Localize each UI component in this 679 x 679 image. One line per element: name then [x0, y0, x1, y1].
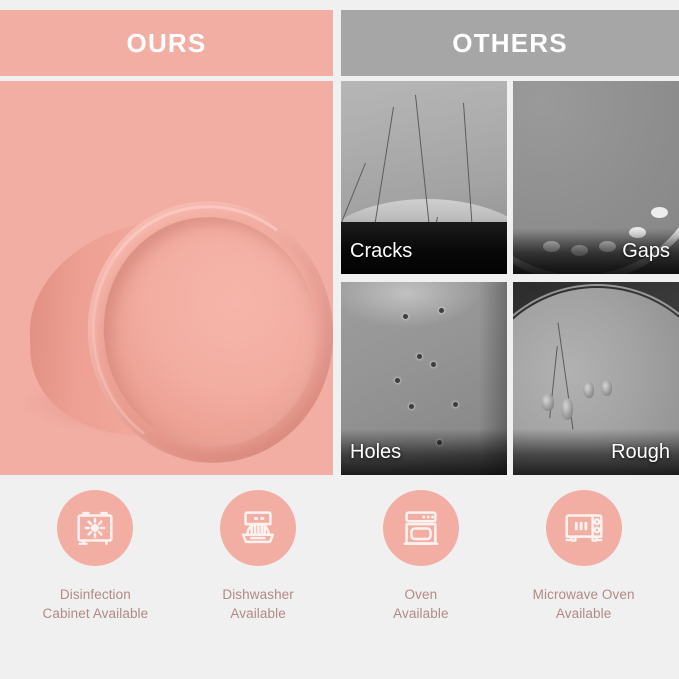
feature-caption: Disinfection Cabinet Available — [42, 585, 148, 623]
feature-caption-line2: Available — [393, 604, 448, 623]
microwave-oven-icon — [561, 505, 607, 551]
ours-product-panel — [0, 81, 333, 475]
header-label-others: OTHERS — [452, 30, 568, 56]
rough-bump — [601, 380, 612, 396]
feature-oven: Oven Available — [345, 490, 497, 623]
feature-caption-line2: Available — [222, 604, 294, 623]
pinhole — [439, 308, 444, 313]
gap-bump — [651, 207, 668, 218]
rough-bump — [583, 382, 594, 398]
defect-caption-gaps: Gaps — [513, 228, 679, 274]
feature-icon-badge — [57, 490, 133, 566]
defect-tile-gaps: Gaps — [513, 81, 679, 274]
pinhole — [409, 404, 414, 409]
feature-disinfection-cabinet: Disinfection Cabinet Available — [19, 490, 171, 623]
defect-caption-holes: Holes — [341, 429, 507, 475]
defect-tile-rough: Rough — [513, 282, 679, 475]
pinhole — [403, 314, 408, 319]
comparison-header: OURS OTHERS — [0, 10, 679, 76]
others-defect-grid: Cracks Gaps — [341, 81, 679, 475]
feature-microwave-oven: Microwave Oven Available — [508, 490, 660, 623]
defect-caption-rough: Rough — [513, 429, 679, 475]
pinhole — [453, 402, 458, 407]
rough-bump — [561, 398, 573, 420]
feature-dishwasher: Dishwasher Available — [182, 490, 334, 623]
feature-caption-line1: Dishwasher — [222, 587, 294, 602]
feature-caption-line1: Microwave Oven — [533, 587, 635, 602]
header-cell-ours: OURS — [0, 10, 333, 76]
pinhole — [431, 362, 436, 367]
dishwasher-icon — [235, 505, 281, 551]
rough-bump — [541, 394, 554, 411]
disinfection-cabinet-icon — [72, 505, 118, 551]
feature-caption: Dishwasher Available — [222, 585, 294, 623]
feature-caption-line2: Cabinet Available — [42, 604, 148, 623]
pinhole — [395, 378, 400, 383]
defect-caption-cracks: Cracks — [341, 228, 507, 274]
defect-tile-cracks: Cracks — [341, 81, 507, 274]
oven-icon — [398, 505, 444, 551]
feature-caption: Microwave Oven Available — [533, 585, 635, 623]
header-cell-others: OTHERS — [341, 10, 679, 76]
feature-icon-badge — [383, 490, 459, 566]
feature-caption-line2: Available — [533, 604, 635, 623]
feature-caption-line1: Oven — [405, 587, 438, 602]
comparison-content: Cracks Gaps — [0, 81, 679, 475]
feature-caption: Oven Available — [393, 585, 448, 623]
header-label-ours: OURS — [127, 30, 207, 56]
feature-icon-badge — [546, 490, 622, 566]
feature-caption-line1: Disinfection — [60, 587, 131, 602]
feature-list: Disinfection Cabinet Available Dishwas — [0, 490, 679, 679]
defect-tile-holes: Holes — [341, 282, 507, 475]
feature-icon-badge — [220, 490, 296, 566]
pinhole — [417, 354, 422, 359]
